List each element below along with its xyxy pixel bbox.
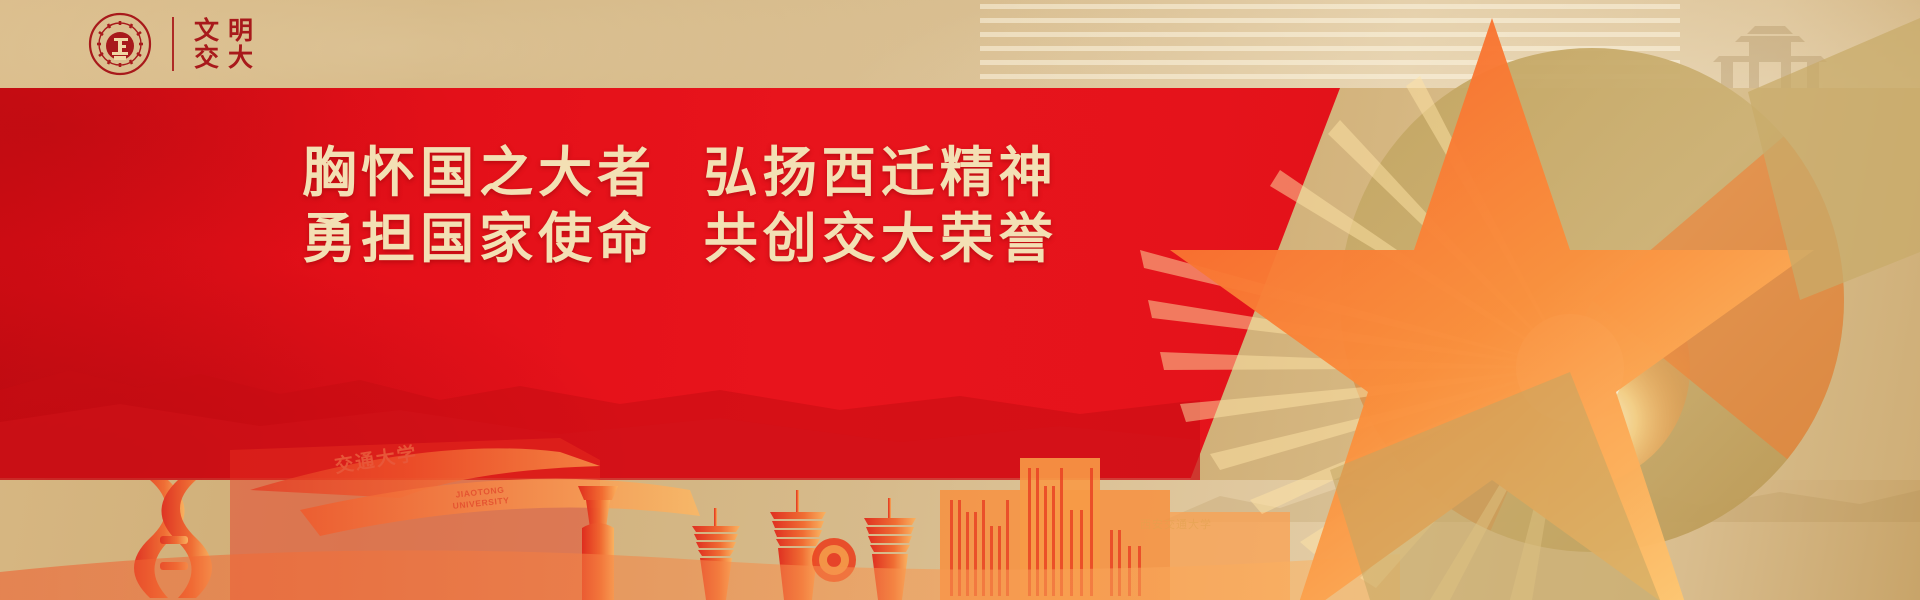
slogan-line-2: 勇担国家使命 共创交大荣誉 <box>0 206 1360 272</box>
star-emblem-group <box>1100 0 1920 600</box>
wordmark-char-4: 大 <box>228 44 254 71</box>
xjtu-seal-icon <box>88 12 152 76</box>
logo-divider <box>172 17 174 71</box>
slogan-line-1: 胸怀国之大者 弘扬西迁精神 <box>0 140 1360 206</box>
university-logo: 文 明 交 大 <box>88 12 254 76</box>
wall-chinese-label: 西安交通大学 <box>1140 516 1212 532</box>
campus-culture-banner: 交通大学 JIAOTONG UNIVERSITY 西安交通大学 <box>0 0 1920 600</box>
logo-wordmark: 文 明 交 大 <box>194 17 254 71</box>
slogan-block: 胸怀国之大者 弘扬西迁精神 勇担国家使命 共创交大荣誉 <box>0 140 1360 272</box>
wordmark-char-1: 文 <box>194 17 220 44</box>
wordmark-char-3: 交 <box>194 44 220 71</box>
wordmark-char-2: 明 <box>228 17 254 44</box>
